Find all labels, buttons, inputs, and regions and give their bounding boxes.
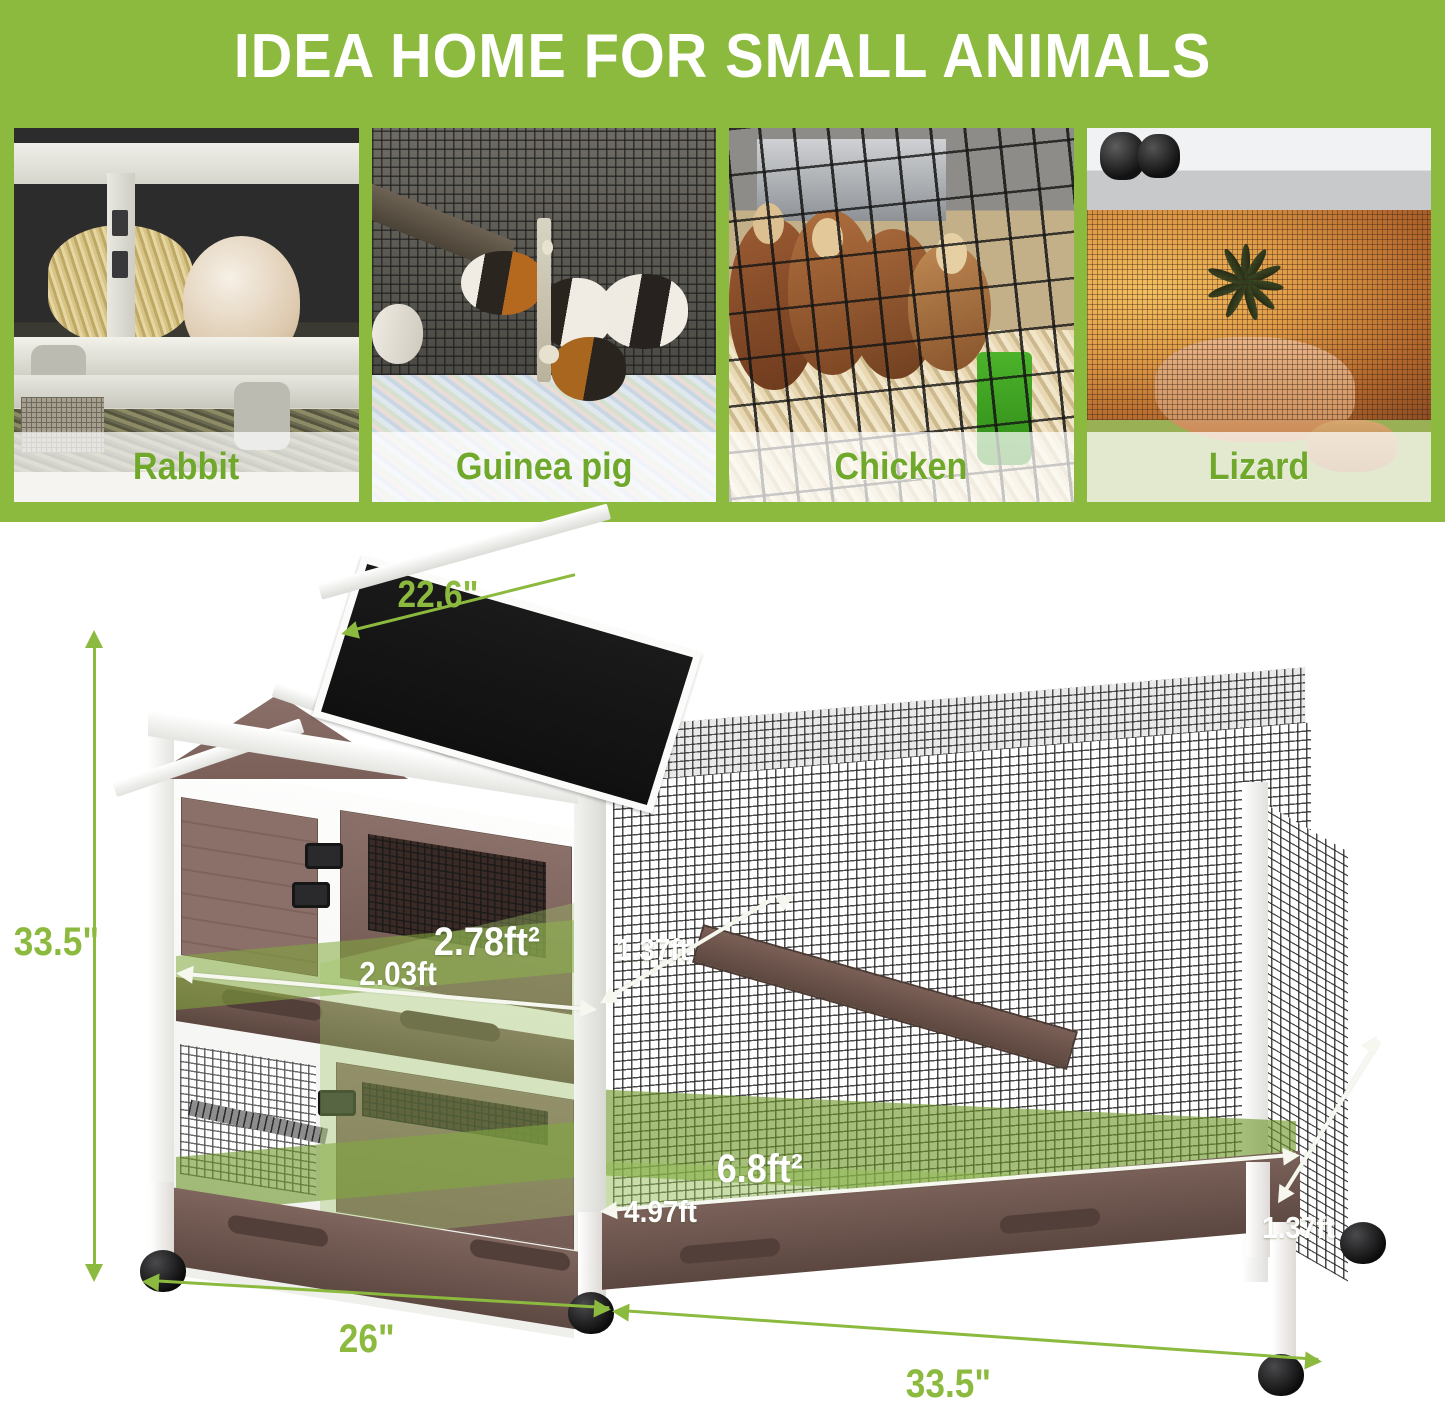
upper-door-hinge-top[interactable] [305, 843, 343, 869]
photo-strip: Rabbit Guinea pig [14, 128, 1431, 502]
photo-label-strip: Chicken [729, 432, 1074, 502]
photo-label-strip: Lizard [1087, 432, 1432, 502]
dim-arrow-upper-width-right [579, 999, 598, 1018]
caster-right [1340, 1222, 1386, 1264]
dim-arrow-height-bottom [85, 1264, 103, 1282]
dim-arrow-run-width-left [599, 1201, 617, 1220]
photo-label-chicken: Chicken [835, 446, 968, 489]
page-title: IDEA HOME FOR SMALL ANIMALS [51, 26, 1395, 88]
product-diagram: 22.6" 33.5" 26" 33.5" 2.78ft² 2.03ft 1.3… [0, 522, 1445, 1416]
dim-arrow-upper-width-left [175, 964, 194, 983]
dim-arrow-total-length-right [1304, 1351, 1322, 1370]
photo-label-guinea-pig: Guinea pig [455, 446, 632, 489]
dim-label-total-length: 33.5" [906, 1362, 991, 1407]
photo-card-lizard: Lizard [1087, 128, 1432, 502]
dim-label-height: 33.5" [14, 920, 99, 965]
dim-arrow-house-width-left [141, 1273, 159, 1292]
photo-label-rabbit: Rabbit [133, 446, 239, 489]
label-upper-width: 2.03ft [359, 955, 437, 993]
label-run-depth: 1.37ft [1262, 1210, 1335, 1246]
dim-label-house-width: 26" [339, 1317, 395, 1362]
label-upper-depth: 1.37ft [616, 932, 689, 968]
label-run-width: 4.97ft [624, 1194, 697, 1230]
dim-arrow-house-width-right [593, 1300, 611, 1319]
header-band: IDEA HOME FOR SMALL ANIMALS [0, 0, 1445, 522]
upper-door-latch[interactable] [292, 882, 330, 908]
label-run-area: 6.8ft² [717, 1147, 803, 1192]
dim-arrow-run-depth-far [1360, 1031, 1384, 1055]
dim-label-roof-depth: 22.6" [398, 574, 479, 617]
photo-label-strip: Rabbit [14, 432, 359, 502]
dim-arrow-height-top [85, 630, 103, 648]
photo-card-chicken: Chicken [729, 128, 1074, 502]
photo-card-guinea-pig: Guinea pig [372, 128, 717, 502]
photo-card-rabbit: Rabbit [14, 128, 359, 502]
dim-line-total-length [620, 1309, 1319, 1361]
photo-label-strip: Guinea pig [372, 432, 717, 502]
photo-label-lizard: Lizard [1208, 446, 1309, 489]
caster-far-right [1258, 1354, 1304, 1396]
label-upper-area: 2.78ft² [434, 920, 540, 965]
dim-arrow-run-width-right [1282, 1146, 1300, 1165]
dim-arrow-total-length-left [611, 1302, 629, 1321]
